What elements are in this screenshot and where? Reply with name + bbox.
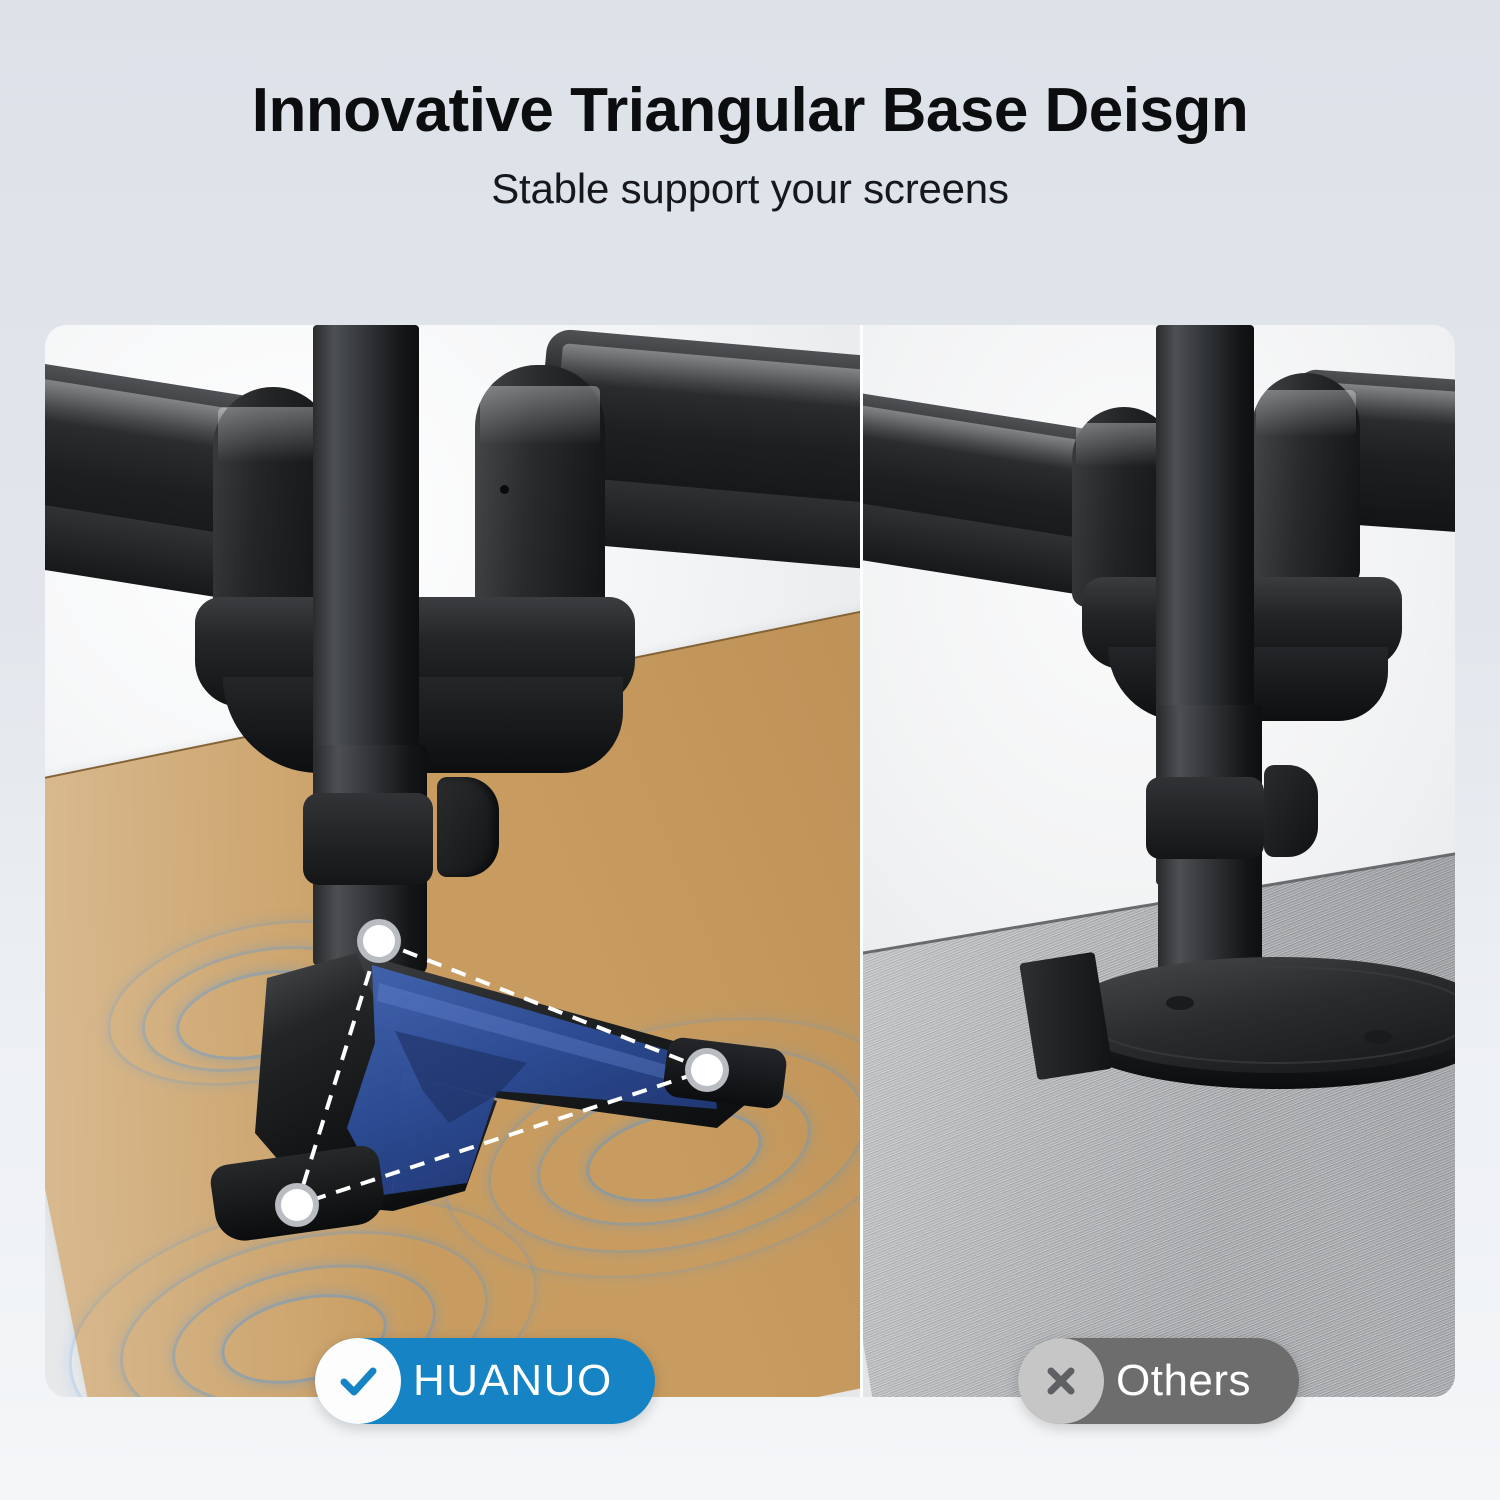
cross-icon xyxy=(1018,1338,1104,1424)
page-title: Innovative Triangular Base Deisgn xyxy=(0,78,1500,143)
contact-triangle-overlay xyxy=(45,325,860,1397)
round-base-plate xyxy=(1060,945,1455,1095)
arm-joint-right-other xyxy=(1252,373,1360,585)
badge-huanuo-label: HUANUO xyxy=(413,1356,613,1406)
badge-huanuo[interactable]: HUANUO xyxy=(315,1338,655,1424)
round-base-svg xyxy=(1060,945,1455,1095)
check-glyph xyxy=(334,1357,382,1405)
header: Innovative Triangular Base Deisgn Stable… xyxy=(0,0,1500,213)
contact-point-front xyxy=(275,1183,319,1227)
comparison-photo-board xyxy=(45,325,1455,1397)
check-icon xyxy=(315,1338,401,1424)
cable-clip-other[interactable] xyxy=(1264,765,1318,857)
contact-point-top xyxy=(357,919,401,963)
panel-divider xyxy=(860,325,863,1397)
cross-glyph xyxy=(1039,1359,1083,1403)
panel-huanuo xyxy=(45,325,860,1397)
arm-gloss xyxy=(1256,390,1355,437)
badge-others-label: Others xyxy=(1116,1356,1251,1406)
page-subtitle: Stable support your screens xyxy=(0,165,1500,213)
badge-others[interactable]: Others xyxy=(1018,1338,1299,1424)
panel-others xyxy=(860,325,1455,1397)
contact-point-right xyxy=(685,1048,729,1092)
cable-clip-band-other xyxy=(1146,777,1264,859)
